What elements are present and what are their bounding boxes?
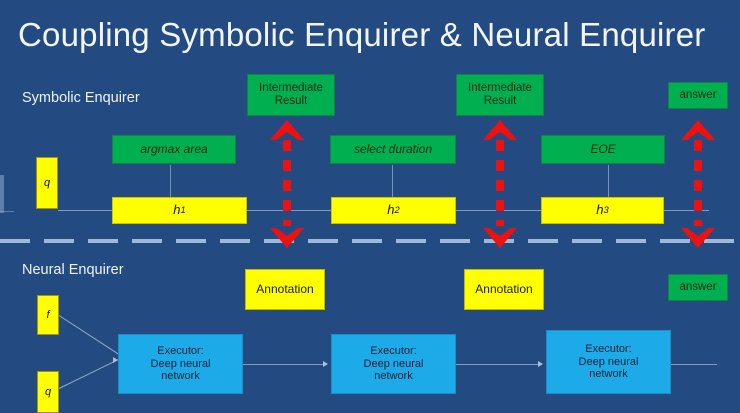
symbolic-link-h3-cmd3: [608, 165, 609, 200]
symbolic-flow-line-1: [58, 210, 113, 211]
coupling-arrow-1-notch-down: [276, 228, 298, 236]
symbolic-state-h2: h2: [331, 197, 456, 224]
symbolic-output-2-line2: Result: [484, 95, 517, 108]
neural-input-f-label: f: [46, 309, 49, 322]
symbolic-state-h1-subscript: 1: [181, 205, 186, 216]
symbolic-state-h3: h3: [541, 197, 664, 224]
neural-executor-1-line1: Executor:: [157, 345, 203, 358]
symbolic-state-h3-label: h: [596, 203, 603, 218]
coupling-arrow-3-shaft: [694, 140, 702, 226]
neural-executor-2: Executor: Deep neural network: [331, 334, 456, 394]
neural-flow-line-1-arrowtip: [323, 361, 328, 367]
section-label-neural: Neural Enquirer: [22, 262, 124, 278]
symbolic-state-h2-subscript: 2: [395, 205, 400, 216]
neural-executor-1-line2: Deep neural: [151, 358, 211, 371]
symbolic-output-2-line1: Intermediate: [468, 82, 532, 95]
symbolic-link-h1-cmd1: [170, 165, 171, 200]
page-title: Coupling Symbolic Enquirer & Neural Enqu…: [18, 16, 730, 54]
coupling-arrow-2: [483, 120, 517, 255]
section-divider: [0, 239, 740, 243]
symbolic-command-1-label: argmax area: [140, 143, 207, 157]
symbolic-command-eoe: EOE: [541, 135, 665, 164]
symbolic-state-h2-label: h: [387, 203, 394, 218]
neural-input-f: f: [37, 295, 59, 335]
neural-answer-label: answer: [679, 281, 716, 294]
coupling-arrow-1-shaft: [283, 140, 291, 226]
neural-executor-1-line3: network: [161, 370, 200, 383]
neural-executor-3: Executor: Deep neural network: [546, 330, 671, 394]
neural-executor-3-line3: network: [589, 368, 628, 381]
coupling-arrow-1: [270, 120, 304, 255]
section-label-symbolic: Symbolic Enquirer: [22, 90, 140, 106]
coupling-arrow-2-notch-up: [489, 132, 511, 140]
symbolic-output-1-line2: Result: [275, 95, 308, 108]
symbolic-command-argmax-area: argmax area: [112, 135, 236, 164]
neural-annotation-1: Annotation: [245, 269, 325, 310]
neural-flow-line-2-arrowtip: [538, 361, 543, 367]
symbolic-output-intermediate-result-1: Intermediate Result: [247, 74, 335, 116]
coupling-arrow-3: [681, 120, 715, 255]
symbolic-output-1-line1: Intermediate: [259, 82, 323, 95]
neural-executor-1: Executor: Deep neural network: [118, 334, 243, 394]
neural-flow-line-2: [456, 364, 540, 365]
neural-flow-line-1: [243, 364, 325, 365]
symbolic-command-2-label: select duration: [354, 143, 432, 157]
coupling-arrow-1-notch-up: [276, 132, 298, 140]
symbolic-output-intermediate-result-2: Intermediate Result: [456, 74, 544, 116]
symbolic-output-answer-label: answer: [679, 89, 716, 102]
neural-flow-line-3: [671, 364, 717, 365]
coupling-arrow-2-shaft: [496, 140, 504, 226]
coupling-arrow-2-notch-down: [489, 228, 511, 236]
symbolic-command-3-label: EOE: [590, 143, 615, 157]
neural-executor-3-line1: Executor:: [585, 343, 631, 356]
edge-artifact-left-bottom: [0, 211, 14, 212]
neural-executor-3-line2: Deep neural: [579, 356, 639, 369]
symbolic-state-h1: h1: [112, 197, 247, 224]
neural-annotation-2: Annotation: [464, 269, 544, 310]
neural-input-q-label: q: [45, 386, 51, 399]
symbolic-input-q: q: [36, 157, 58, 209]
neural-executor-2-line2: Deep neural: [364, 358, 424, 371]
neural-annotation-1-label: Annotation: [256, 283, 313, 297]
coupling-arrow-3-notch-up: [687, 132, 709, 140]
symbolic-state-h3-subscript: 3: [604, 205, 609, 216]
neural-annotation-2-label: Annotation: [475, 283, 532, 297]
symbolic-state-h1-label: h: [173, 203, 180, 218]
symbolic-input-q-label: q: [44, 177, 50, 190]
neural-link-f-to-executor1: [59, 315, 120, 355]
symbolic-link-h2-cmd2: [392, 165, 393, 200]
symbolic-output-answer: answer: [668, 82, 728, 109]
neural-input-q: q: [37, 371, 59, 413]
slide-canvas: Coupling Symbolic Enquirer & Neural Enqu…: [0, 0, 740, 413]
neural-answer: answer: [668, 274, 728, 301]
symbolic-command-select-duration: select duration: [330, 135, 456, 164]
coupling-arrow-3-notch-down: [687, 228, 709, 236]
neural-executor-2-line1: Executor:: [370, 345, 416, 358]
edge-artifact-left-top: [0, 175, 4, 213]
neural-executor-2-line3: network: [374, 370, 413, 383]
